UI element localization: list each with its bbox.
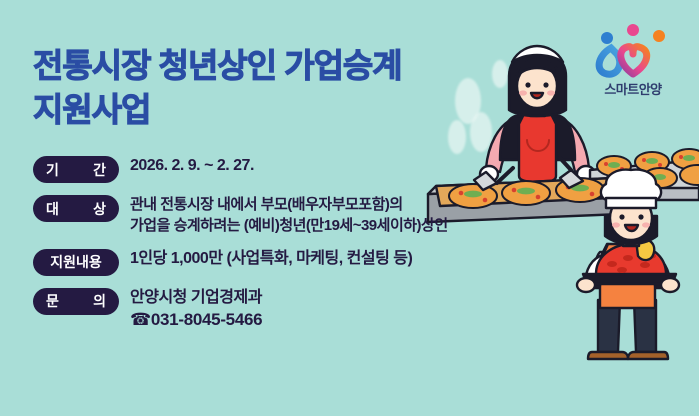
man-holding-tteokbokki-tray bbox=[577, 170, 679, 359]
badge-period-char-1: 기 bbox=[46, 160, 59, 180]
period-value: 2026. 2. 9. ~ 2. 27. bbox=[130, 155, 254, 178]
page-title: 전통시장 청년상인 가업승계 지원사업 bbox=[33, 44, 513, 131]
logo-wordmark: 스마트안양 bbox=[581, 79, 685, 98]
contact-phone: ☎031-8045-5466 bbox=[130, 309, 262, 331]
smart-anyang-heart-icon bbox=[581, 22, 685, 78]
badge-period-char-2: 간 bbox=[93, 160, 106, 180]
target-value: 관내 전통시장 내에서 부모(배우자부모포함)의 가업을 승계하려는 (예비)청… bbox=[130, 194, 448, 237]
badge-contact-char-2: 의 bbox=[93, 291, 106, 311]
info-row-support: 지원내용 1인당 1,000만 (사업특화, 마케팅, 컨설팅 등) bbox=[33, 248, 553, 276]
support-value: 1인당 1,000만 (사업특화, 마케팅, 컨설팅 등) bbox=[130, 248, 412, 271]
badge-target-char-1: 대 bbox=[46, 199, 59, 219]
info-row-period: 기 간 2026. 2. 9. ~ 2. 27. bbox=[33, 155, 553, 183]
contact-department: 안양시청 기업경제과 bbox=[130, 287, 262, 310]
badge-target-char-2: 상 bbox=[93, 199, 106, 219]
poster-canvas: 전통시장 청년상인 가업승계 지원사업 bbox=[0, 0, 699, 416]
smart-anyang-logo: 스마트안양 bbox=[581, 22, 685, 98]
badge-target: 대 상 bbox=[33, 195, 119, 222]
info-row-contact: 문 의 안양시청 기업경제과 ☎031-8045-5466 bbox=[33, 287, 553, 332]
badge-support: 지원내용 bbox=[33, 249, 119, 276]
badge-contact-char-1: 문 bbox=[46, 291, 59, 311]
badge-period: 기 간 bbox=[33, 156, 119, 183]
back-tray-of-jeon bbox=[590, 149, 699, 200]
info-list: 기 간 2026. 2. 9. ~ 2. 27. 대 상 관내 전통시장 내에서… bbox=[33, 155, 553, 342]
badge-contact: 문 의 bbox=[33, 288, 119, 315]
info-row-target: 대 상 관내 전통시장 내에서 부모(배우자부모포함)의 가업을 승계하려는 (… bbox=[33, 194, 553, 237]
